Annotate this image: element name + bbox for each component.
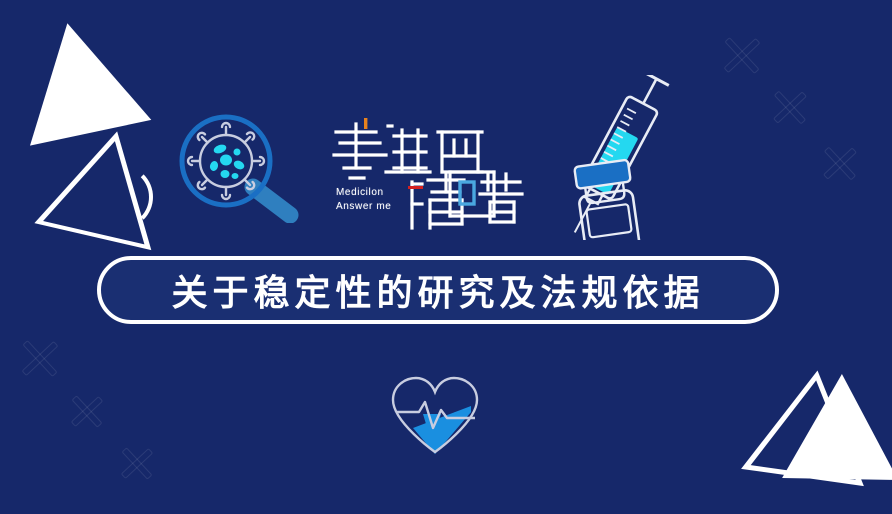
title-pill: 关于稳定性的研究及法规依据 — [97, 256, 779, 324]
x-mark-icon — [67, 391, 106, 430]
logo-subtitle-line2: Answer me — [336, 200, 391, 214]
x-mark-icon — [819, 142, 860, 183]
magnifier-virus-icon — [168, 105, 308, 223]
logo-subtitle: Medicilon Answer me — [336, 186, 391, 214]
medicilon-logo: Medicilon Answer me — [330, 110, 530, 235]
logo-subtitle-line1: Medicilon — [336, 186, 391, 200]
x-mark-icon — [17, 335, 63, 381]
triangle-filled-decoration — [782, 373, 892, 480]
logo-orange-accent — [364, 118, 367, 129]
triangle-filled-decoration — [7, 10, 152, 145]
x-mark-icon — [719, 32, 765, 78]
x-mark-icon — [117, 443, 156, 482]
syringe-vial-icon — [555, 75, 675, 240]
page-title: 关于稳定性的研究及法规依据 — [171, 264, 704, 316]
logo-red-accent — [408, 186, 423, 189]
promo-banner: Medicilon Answer me — [0, 0, 892, 514]
heart-pulse-icon — [383, 370, 488, 460]
x-mark-icon — [769, 86, 810, 127]
